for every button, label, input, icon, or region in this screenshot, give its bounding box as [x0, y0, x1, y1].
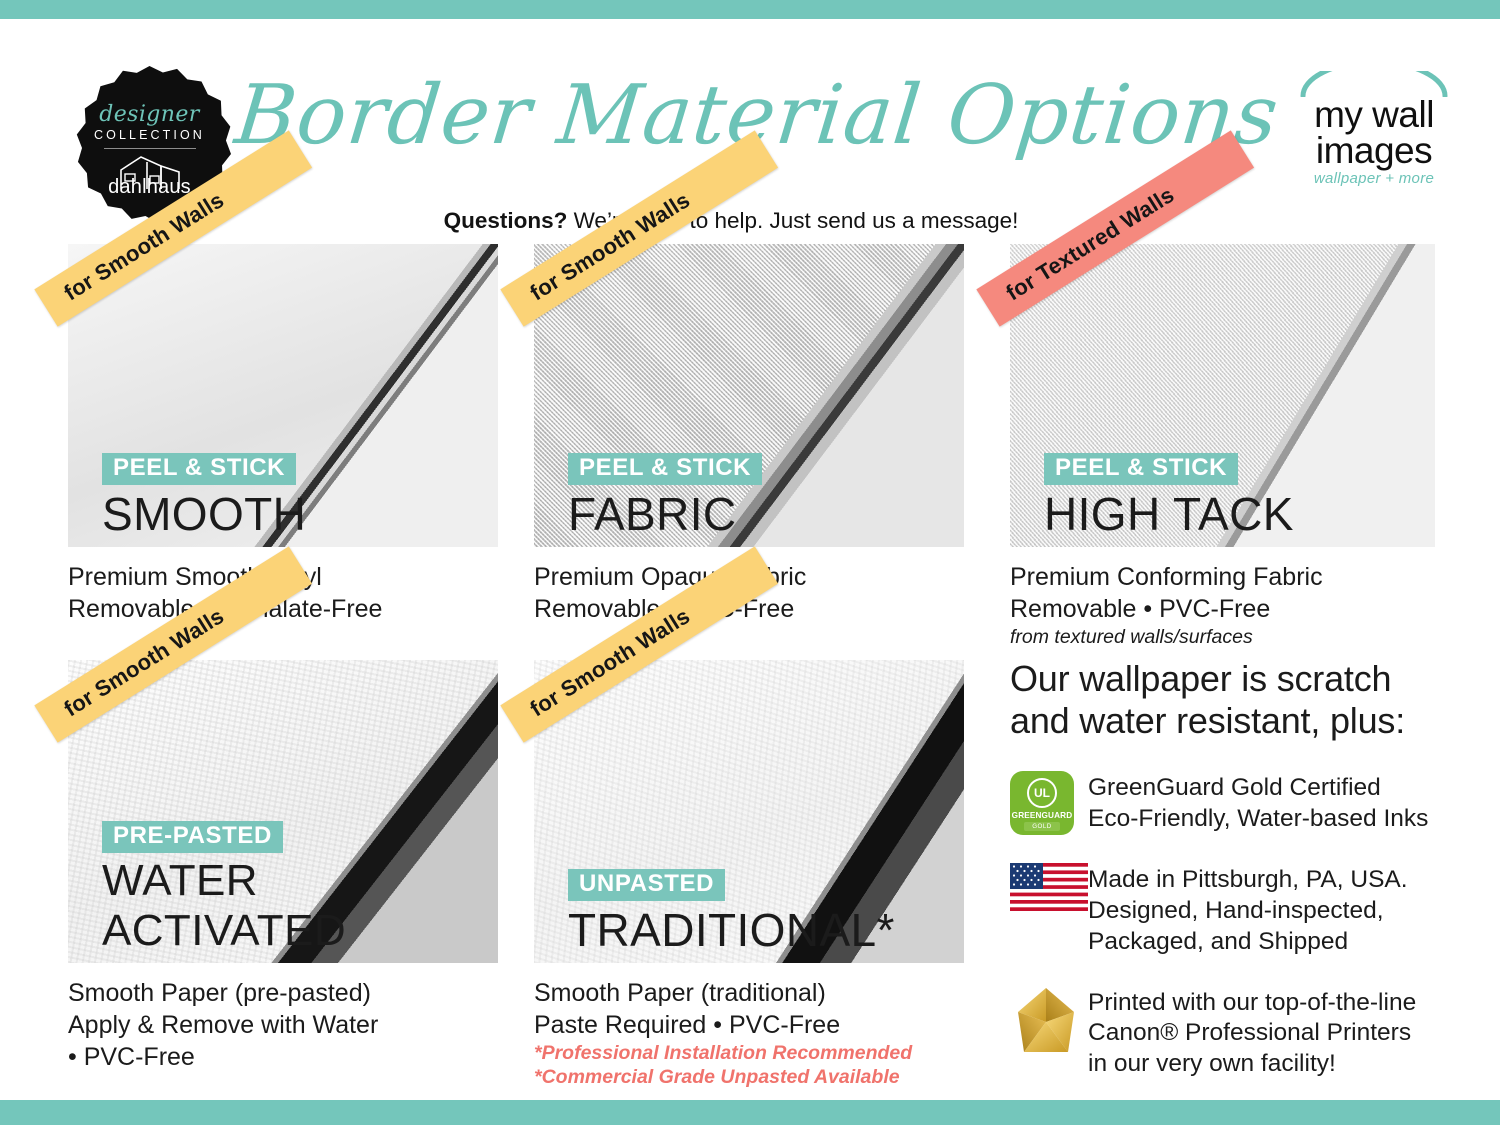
feature-line-2: Eco-Friendly, Water-based Inks — [1088, 804, 1428, 835]
features-panel: Our wallpaper is scratch and water resis… — [1010, 658, 1460, 1080]
adhesive-pill: UNPASTED — [568, 869, 725, 901]
card-type-block: UNPASTED TRADITIONAL* — [568, 869, 895, 953]
feature-icon-slot — [1010, 863, 1088, 911]
my-wall-images-logo: my wall images wallpaper + more — [1285, 71, 1463, 231]
material-card-traditional[interactable]: for Smooth Walls UNPASTED TRADITIONAL* S… — [534, 660, 964, 1090]
card-swatch: for Smooth Walls PEEL & STICK FABRIC — [534, 244, 964, 547]
feature-text: GreenGuard Gold Certified Eco-Friendly, … — [1088, 771, 1428, 835]
logo-line-2: images — [1285, 133, 1463, 169]
greenguard-badge-icon: UL GREENGUARD GOLD — [1010, 771, 1074, 835]
feature-text: Printed with our top-of-the-line Canon® … — [1088, 986, 1416, 1081]
material-name: SMOOTH — [102, 491, 306, 537]
desc-line-2: Paste Required • PVC-Free — [534, 1009, 964, 1041]
greenguard-word: GREENGUARD — [1012, 811, 1073, 820]
material-name: TRADITIONAL* — [568, 907, 895, 953]
material-name: WATER — [102, 859, 346, 903]
card-description: Smooth Paper (pre-pasted) Apply & Remove… — [68, 977, 498, 1073]
adhesive-pill: PEEL & STICK — [102, 453, 296, 485]
card-swatch: for Textured Walls PEEL & STICK HIGH TAC… — [1010, 244, 1435, 547]
logo-tagline: wallpaper + more — [1285, 170, 1463, 187]
card-swatch: for Smooth Walls PEEL & STICK SMOOTH — [68, 244, 498, 547]
feature-line-2: Designed, Hand-inspected, — [1088, 896, 1408, 927]
desc-line-1: Premium Conforming Fabric — [1010, 561, 1435, 593]
feature-line-1: Made in Pittsburgh, PA, USA. — [1088, 865, 1408, 896]
usa-flag-icon — [1010, 863, 1088, 911]
bottom-accent-bar — [0, 1100, 1500, 1125]
subtitle-bold: Questions? — [444, 208, 568, 233]
material-card-high-tack[interactable]: for Textured Walls PEEL & STICK HIGH TAC… — [1010, 244, 1435, 649]
desc-line-2: Removable • PVC-Free — [1010, 593, 1435, 625]
card-description: Smooth Paper (traditional) Paste Require… — [534, 977, 964, 1090]
features-heading: Our wallpaper is scratch and water resis… — [1010, 658, 1460, 743]
feature-line-1: Printed with our top-of-the-line — [1088, 988, 1416, 1019]
desc-line-1: Smooth Paper (pre-pasted) — [68, 977, 498, 1009]
adhesive-pill: PEEL & STICK — [568, 453, 762, 485]
feature-text: Made in Pittsburgh, PA, USA. Designed, H… — [1088, 863, 1408, 958]
feature-row-made-in-usa: Made in Pittsburgh, PA, USA. Designed, H… — [1010, 863, 1460, 958]
feature-icon-slot: UL GREENGUARD GOLD — [1010, 771, 1088, 835]
features-heading-line-1: Our wallpaper is scratch — [1010, 658, 1460, 700]
feature-line-3: in our very own facility! — [1088, 1049, 1416, 1080]
feature-line-3: Packaged, and Shipped — [1088, 927, 1408, 958]
seal-script-label: designer — [99, 104, 199, 126]
feature-row-canon-printers: Printed with our top-of-the-line Canon® … — [1010, 986, 1460, 1081]
seal-divider — [104, 148, 196, 149]
card-warning-1: *Professional Installation Recommended — [534, 1041, 964, 1065]
feature-line-2: Canon® Professional Printers — [1088, 1018, 1416, 1049]
card-type-block: PEEL & STICK HIGH TACK — [1044, 453, 1294, 537]
card-description: Premium Conforming Fabric Removable • PV… — [1010, 561, 1435, 649]
card-swatch: for Smooth Walls UNPASTED TRADITIONAL* — [534, 660, 964, 963]
feature-line-1: GreenGuard Gold Certified — [1088, 773, 1428, 804]
desc-line-1: Smooth Paper (traditional) — [534, 977, 964, 1009]
card-type-block: PEEL & STICK SMOOTH — [102, 453, 306, 537]
feature-row-greenguard: UL GREENGUARD GOLD GreenGuard Gold Certi… — [1010, 771, 1460, 835]
card-swatch: for Smooth Walls PRE-PASTED WATER ACTIVA… — [68, 660, 498, 963]
seal-collection-label: COLLECTION — [94, 129, 205, 142]
infographic-page: designer COLLECTION dahlhaus Border Mate… — [0, 0, 1500, 1125]
card-type-block: PRE-PASTED WATER ACTIVATED — [102, 821, 346, 953]
greenguard-gold-tag: GOLD — [1024, 822, 1060, 831]
material-name: FABRIC — [568, 491, 762, 537]
gold-star-icon — [1010, 986, 1082, 1054]
adhesive-pill: PRE-PASTED — [102, 821, 283, 853]
card-warning-2: *Commercial Grade Unpasted Available — [534, 1065, 964, 1089]
card-note: from textured walls/surfaces — [1010, 625, 1435, 649]
material-name-second-line: ACTIVATED — [102, 909, 346, 953]
ul-mark: UL — [1027, 778, 1057, 808]
adhesive-pill: PEEL & STICK — [1044, 453, 1238, 485]
desc-line-3: • PVC-Free — [68, 1041, 498, 1073]
logo-line-1: my wall — [1285, 97, 1463, 133]
features-heading-line-2: and water resistant, plus: — [1010, 700, 1460, 742]
top-accent-bar — [0, 0, 1500, 19]
feature-icon-slot — [1010, 986, 1088, 1054]
card-type-block: PEEL & STICK FABRIC — [568, 453, 762, 537]
material-card-water-activated[interactable]: for Smooth Walls PRE-PASTED WATER ACTIVA… — [68, 660, 498, 1073]
seal-brand-label: dahlhaus — [108, 177, 191, 197]
desc-line-2: Apply & Remove with Water — [68, 1009, 498, 1041]
material-name: HIGH TACK — [1044, 491, 1294, 537]
